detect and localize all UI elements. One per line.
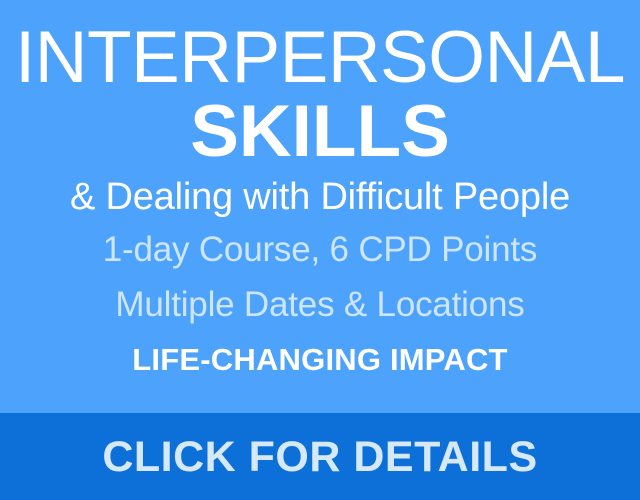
headline-line-1: INTERPERSONAL	[0, 22, 640, 94]
subheading: & Dealing with Difficult People	[0, 174, 640, 220]
cta-button-label: CLICK FOR DETAILS	[102, 433, 537, 481]
advertisement-banner[interactable]: INTERPERSONAL SKILLS & Dealing with Diff…	[0, 0, 640, 500]
cta-button[interactable]: CLICK FOR DETAILS	[0, 413, 640, 500]
tagline: LIFE-CHANGING IMPACT	[0, 341, 640, 379]
detail-dates-locations: Multiple Dates & Locations	[0, 282, 640, 327]
banner-body: INTERPERSONAL SKILLS & Dealing with Diff…	[0, 0, 640, 413]
detail-course-duration: 1-day Course, 6 CPD Points	[0, 227, 640, 272]
headline-line-2: SKILLS	[0, 96, 640, 168]
